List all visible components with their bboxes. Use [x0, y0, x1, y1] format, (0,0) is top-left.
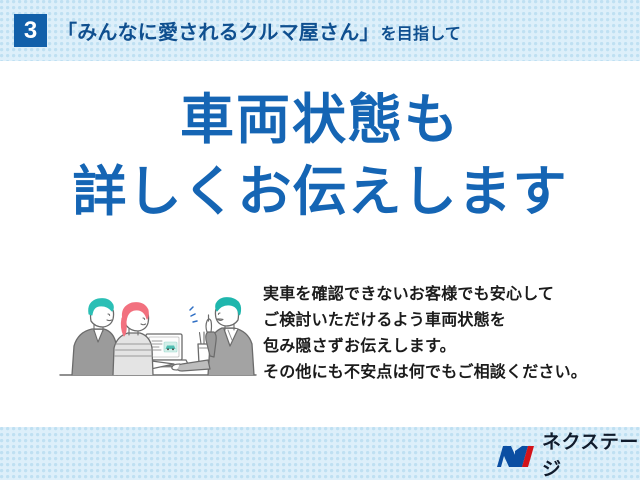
- body-text: 実車を確認できないお客様でも安心して ご検討いただけるよう車両状態を 包み隠さず…: [263, 282, 623, 386]
- header-title-suffix: を目指して: [380, 17, 462, 44]
- header-title-main: 「みんなに愛されるクルマ屋さん」: [57, 16, 380, 45]
- content-card: 車両状態も 詳しくお伝えします: [0, 61, 640, 427]
- headline-line-1: 車両状態も: [0, 93, 640, 147]
- headline: 車両状態も 詳しくお伝えします: [0, 93, 640, 219]
- step-number-badge: 3: [14, 14, 47, 47]
- header-title: 「みんなに愛されるクルマ屋さん」を目指して: [57, 13, 461, 47]
- body-text-line-4: その他にも不安点は何でもご相談ください。: [263, 360, 623, 386]
- headline-line-2: 詳しくお伝えします: [0, 165, 640, 219]
- header: 3 「みんなに愛されるクルマ屋さん」を目指して: [0, 0, 640, 61]
- brand-logo: ネクステージ: [494, 441, 640, 471]
- promo-banner: 3 「みんなに愛されるクルマ屋さん」を目指して 車両状態も 詳しくお伝えします: [0, 0, 640, 480]
- consultation-illustration: [58, 274, 258, 394]
- body-text-line-3: 包み隠さずお伝えします。: [263, 334, 623, 360]
- brand-name: ネクステージ: [542, 429, 640, 480]
- nextage-n-logo-icon: [494, 443, 536, 470]
- body-text-line-1: 実車を確認できないお客様でも安心して: [263, 282, 623, 308]
- body-text-line-2: ご検討いただけるよう車両状態を: [263, 308, 623, 334]
